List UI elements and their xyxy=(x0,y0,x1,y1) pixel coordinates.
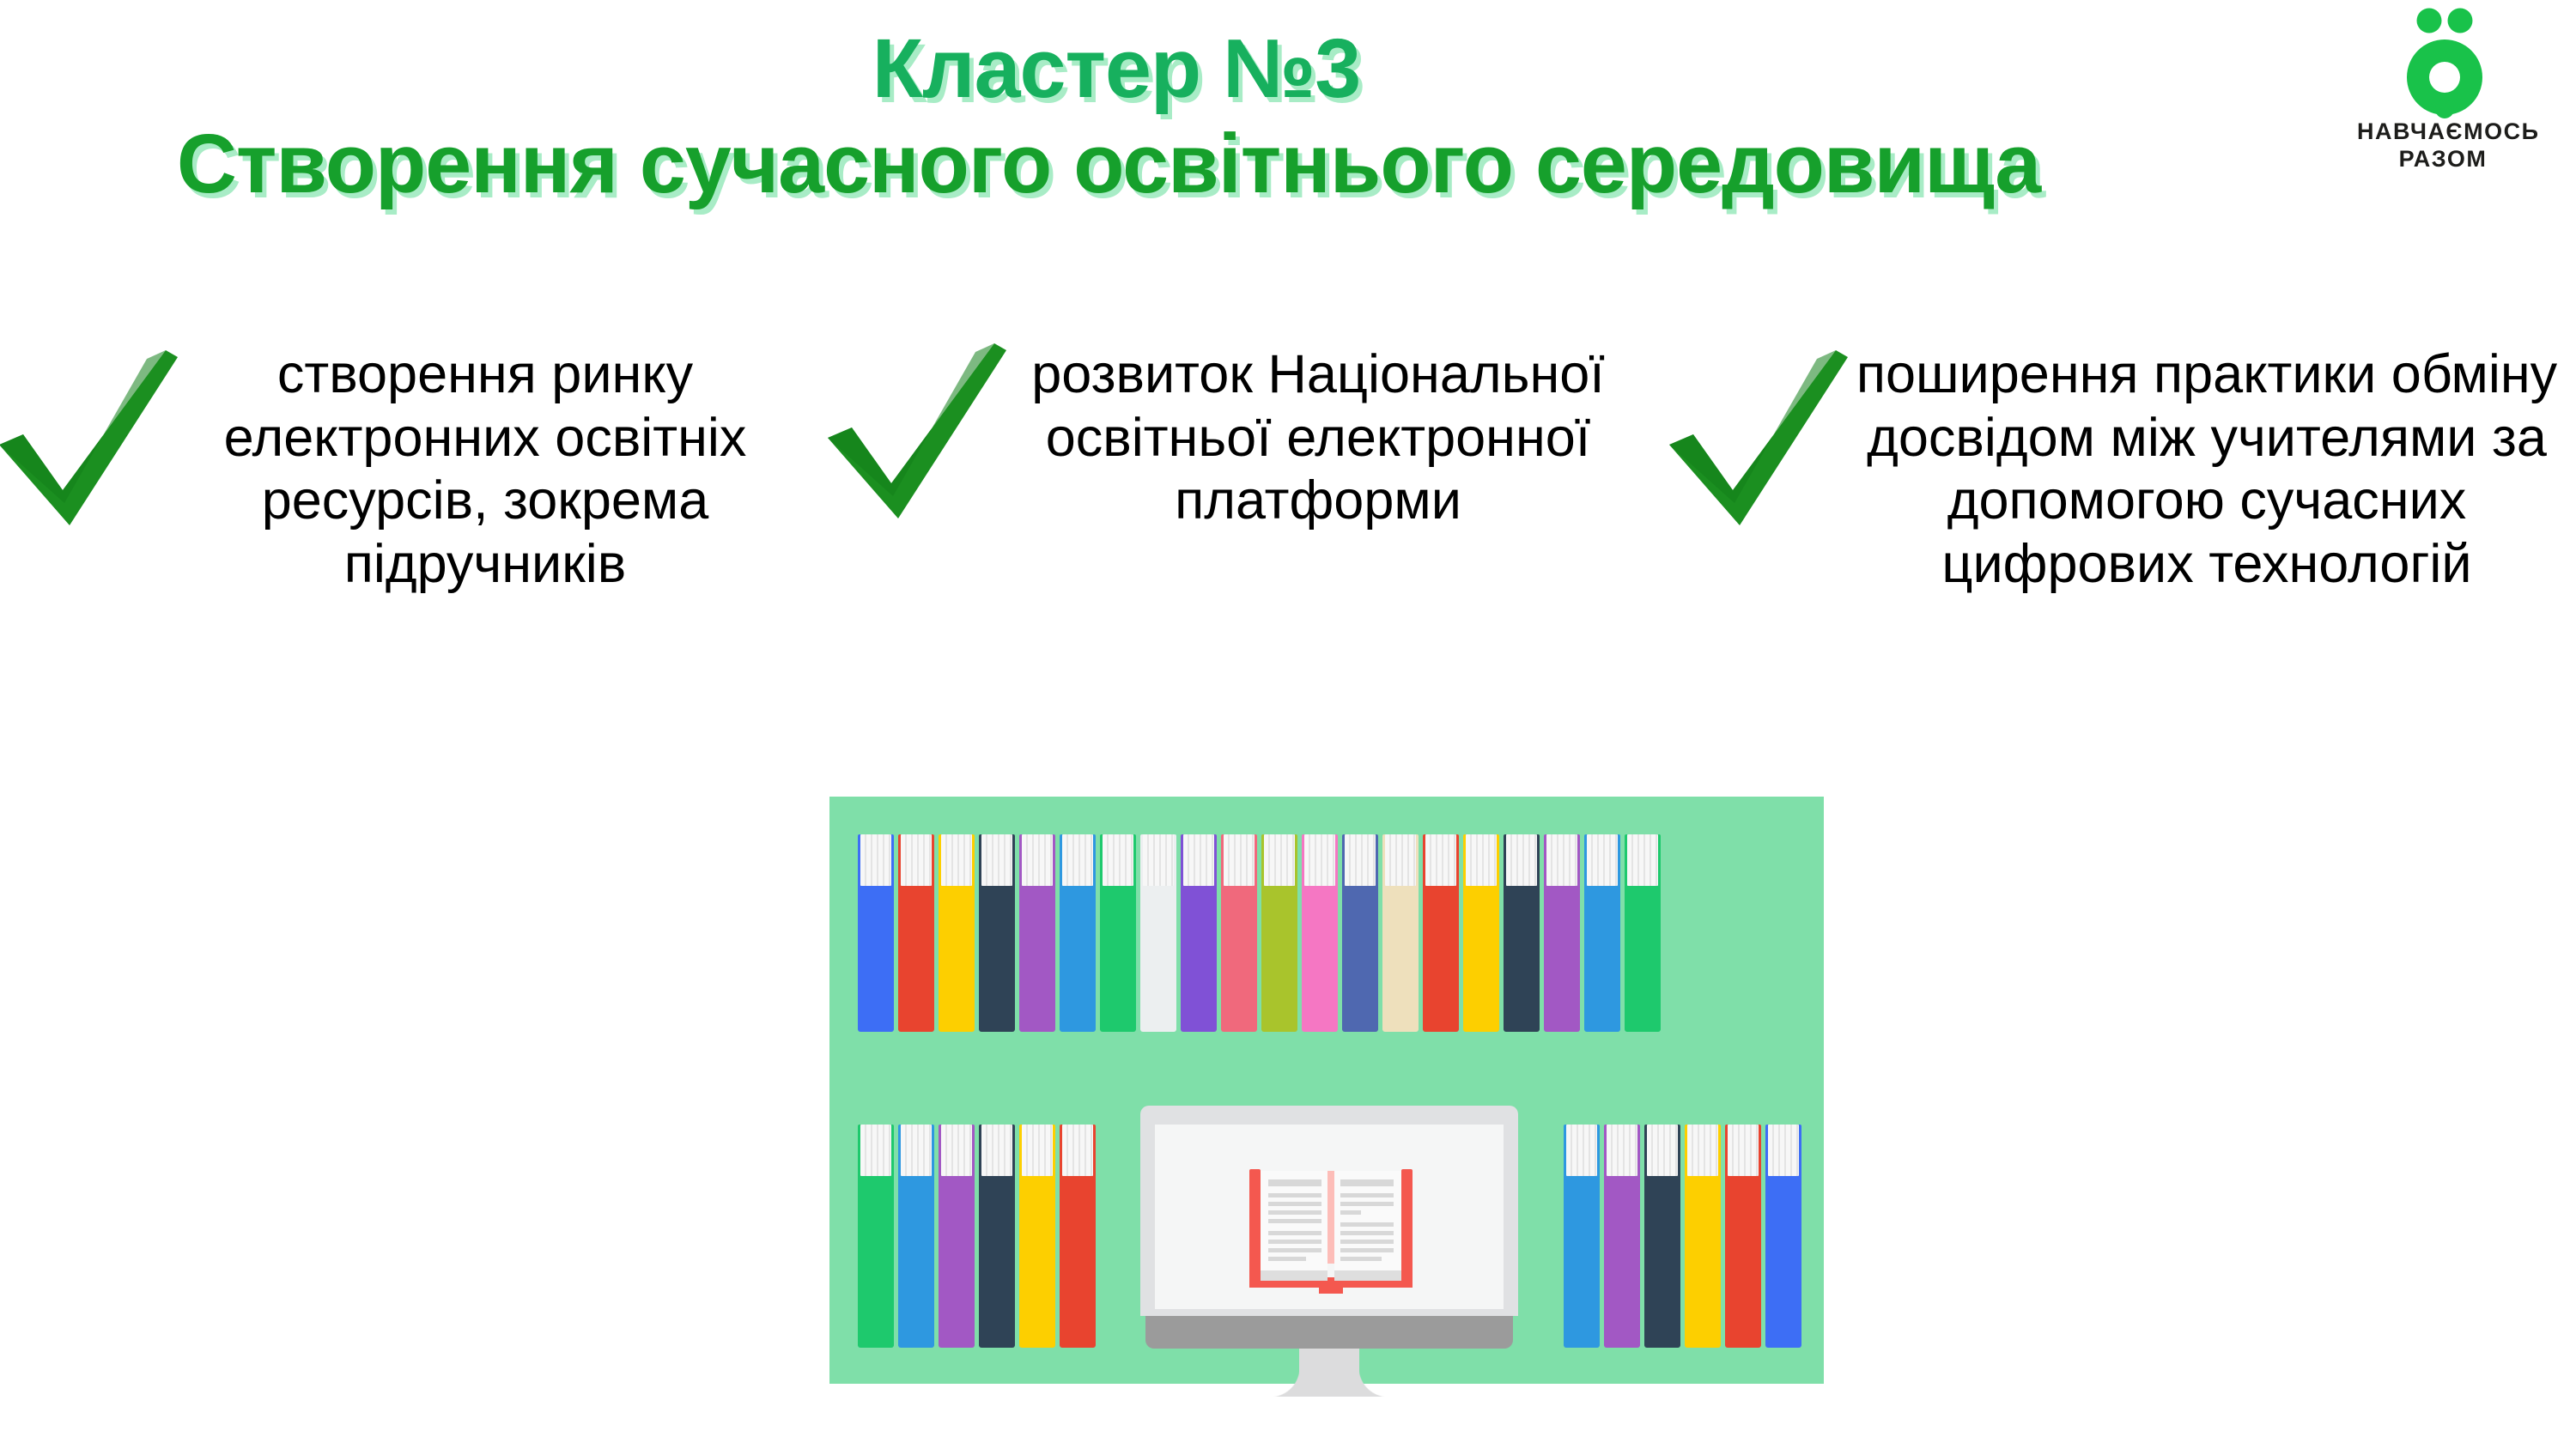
book-spine xyxy=(1644,1125,1680,1348)
book-pages xyxy=(1062,834,1093,886)
book-pages xyxy=(1062,1125,1093,1176)
brand-logo: НАВЧАЄМОСЬ РАЗОМ xyxy=(2357,7,2529,187)
book-pages xyxy=(1647,1125,1678,1176)
book-spine xyxy=(1019,1125,1055,1348)
book-spine xyxy=(1060,834,1096,1032)
book-pages xyxy=(1022,1125,1053,1176)
bookshelf-row-bottom-right xyxy=(1564,1125,1806,1348)
book-spine xyxy=(898,834,934,1032)
monitor-stand xyxy=(1299,1349,1359,1397)
book-spine xyxy=(1584,834,1620,1032)
book-pages xyxy=(901,834,932,886)
book-spine xyxy=(1564,1125,1600,1348)
book-pages xyxy=(941,834,972,886)
book-spine xyxy=(1140,834,1176,1032)
book-spine xyxy=(898,1125,934,1348)
bookshelf-with-monitor-illustration xyxy=(829,797,1824,1384)
book-spine xyxy=(858,1125,894,1348)
book-spine xyxy=(1019,834,1055,1032)
book-spine xyxy=(1544,834,1580,1032)
book-spine xyxy=(1625,834,1661,1032)
book-spine xyxy=(1181,834,1217,1032)
page-title: Кластер №3 Створення сучасного освітньог… xyxy=(0,24,2233,209)
book-spine xyxy=(939,1125,975,1348)
book-pages xyxy=(1506,834,1537,886)
monitor-base xyxy=(1145,1316,1513,1349)
book-pages xyxy=(1183,834,1214,886)
book-spine xyxy=(1463,834,1499,1032)
book-pages xyxy=(901,1125,932,1176)
book-pages xyxy=(1687,1125,1718,1176)
book-spine xyxy=(858,834,894,1032)
book-spine xyxy=(1604,1125,1640,1348)
book-pages xyxy=(1022,834,1053,886)
book-pages xyxy=(1385,834,1416,886)
book-pages xyxy=(981,1125,1012,1176)
book-pages xyxy=(1587,834,1618,886)
book-spine xyxy=(1060,1125,1096,1348)
book-spine xyxy=(939,834,975,1032)
logo-text-line-2: РАЗОМ xyxy=(2357,146,2529,173)
book-pages xyxy=(860,834,891,886)
book-spine xyxy=(1504,834,1540,1032)
desktop-monitor xyxy=(1140,1106,1518,1380)
book-pages xyxy=(1728,1125,1759,1176)
book-pages xyxy=(1224,834,1255,886)
title-line-cluster-number: Кластер №3 xyxy=(0,24,2233,114)
book-pages xyxy=(1425,834,1456,886)
column-text-2: розвиток Національної освітньої електрон… xyxy=(1000,343,1636,533)
monitor-screen xyxy=(1155,1125,1504,1309)
book-pages xyxy=(1345,834,1376,886)
column-text-3: поширення практики обміну досвідом між у… xyxy=(1829,343,2576,597)
green-checkmark-icon-1 xyxy=(0,343,180,545)
book-pages xyxy=(1264,834,1295,886)
book-spine xyxy=(1725,1125,1761,1348)
book-pages xyxy=(1768,1125,1799,1176)
book-spine xyxy=(1765,1125,1801,1348)
book-pages xyxy=(860,1125,891,1176)
column-text-1: створення ринку електронних освітніх рес… xyxy=(172,343,799,597)
book-spine xyxy=(979,834,1015,1032)
book-pages xyxy=(981,834,1012,886)
monitor-bezel xyxy=(1140,1106,1518,1316)
green-checkmark-icon-3 xyxy=(1666,343,1850,545)
book-pages xyxy=(1466,834,1497,886)
book-pages xyxy=(1566,1125,1597,1176)
open-book-icon xyxy=(1249,1169,1413,1294)
book-spine xyxy=(1261,834,1297,1032)
book-pages xyxy=(1607,1125,1637,1176)
bookshelf-row-top xyxy=(858,834,1665,1032)
book-spine xyxy=(1382,834,1419,1032)
title-line-subject: Створення сучасного освітнього середовищ… xyxy=(0,119,2233,209)
book-pages xyxy=(1546,834,1577,886)
bookshelf-row-bottom-left xyxy=(858,1125,1100,1348)
book-pages xyxy=(1143,834,1174,886)
book-spine xyxy=(979,1125,1015,1348)
book-spine xyxy=(1685,1125,1721,1348)
green-checkmark-icon-2 xyxy=(824,336,1009,538)
book-pages xyxy=(1304,834,1335,886)
book-spine xyxy=(1221,834,1257,1032)
navchaemos-razom-logo-icon xyxy=(2357,7,2529,118)
book-pages xyxy=(941,1125,972,1176)
book-spine xyxy=(1302,834,1338,1032)
book-spine xyxy=(1342,834,1378,1032)
book-pages xyxy=(1627,834,1658,886)
book-pages xyxy=(1103,834,1133,886)
book-spine xyxy=(1100,834,1136,1032)
book-spine xyxy=(1423,834,1459,1032)
logo-text-line-1: НАВЧАЄМОСЬ xyxy=(2357,118,2529,146)
